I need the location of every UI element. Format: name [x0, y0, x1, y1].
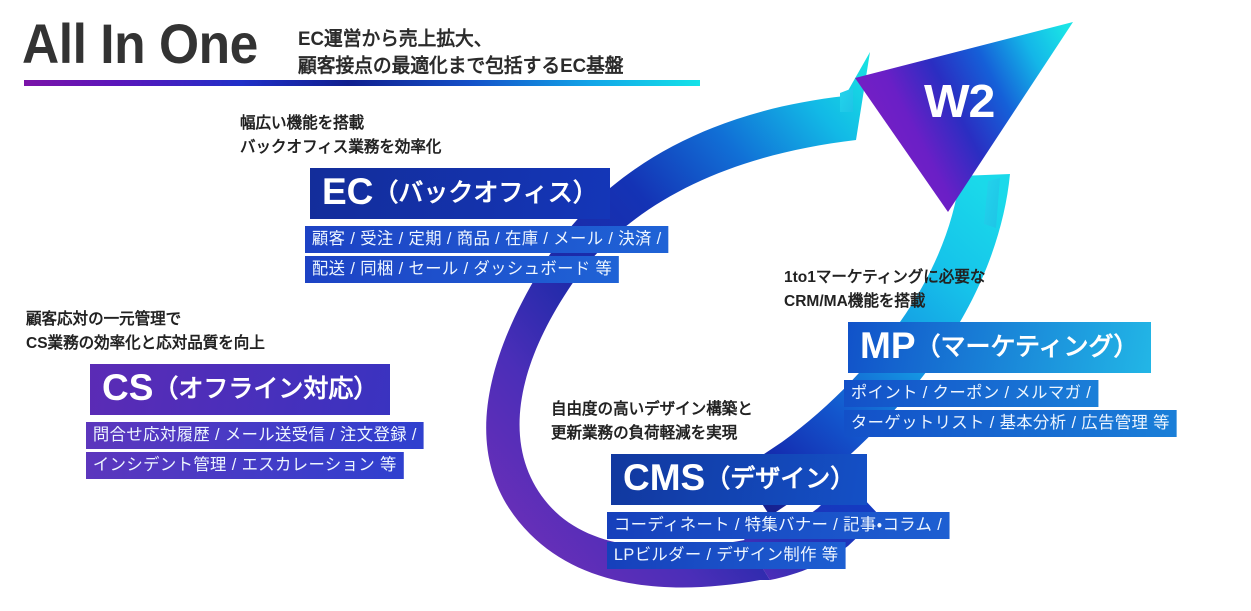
- section-ec-title: EC（バックオフィス）: [310, 168, 610, 219]
- header-gradient-rule: [24, 80, 700, 86]
- section-cs-code: CS: [102, 367, 153, 408]
- section-cms-jp-title: （デザイン）: [705, 465, 855, 493]
- section-cms-lead-line-2: 更新業務の負荷軽減を実現: [551, 422, 941, 446]
- section-cms-tags-line-1: コーディネート / 特集バナー / 記事・コラム /: [607, 512, 949, 539]
- section-cs-tags: 問合せ応対履歴 / メール送受信 / 注文登録 / インシデント管理 / エスカ…: [86, 422, 427, 479]
- section-cs-jp-title: （オフライン対応）: [153, 375, 378, 403]
- section-cms: 自由度の高いデザイン構築と 更新業務の負荷軽減を実現 CMS（デザイン） コーデ…: [551, 398, 953, 572]
- cyan-chip-left: [840, 88, 853, 112]
- all-in-one-diagram: All In One EC運営から売上拡大、 顧客接点の最適化まで包括するEC基…: [0, 0, 1251, 611]
- section-cs: 顧客応対の一元管理で CS業務の効率化と応対品質を向上 CS（オフライン対応） …: [26, 308, 427, 482]
- page-header: All In One EC運営から売上拡大、 顧客接点の最適化まで包括するEC基…: [22, 14, 637, 80]
- section-mp-title: MP（マーケティング）: [848, 322, 1151, 373]
- section-mp-jp-title: （マーケティング）: [916, 333, 1139, 361]
- section-cs-tags-line-2: インシデント管理 / エスカレーション 等: [86, 452, 404, 479]
- section-mp-lead-line-2: CRM/MA機能を搭載: [784, 290, 1168, 314]
- section-mp-lead-line-1: 1to1マーケティングに必要な: [784, 266, 1168, 290]
- section-ec-lead-line-1: 幅広い機能を搭載: [240, 112, 659, 136]
- section-ec-tags: 顧客 / 受注 / 定期 / 商品 / 在庫 / メール / 決済 / 配送 /…: [305, 226, 672, 283]
- section-cs-lead-line-1: 顧客応対の一元管理で: [26, 308, 415, 332]
- section-cms-lead-line-1: 自由度の高いデザイン構築と: [551, 398, 941, 422]
- page-title: All In One: [22, 14, 258, 74]
- section-ec-code: EC: [322, 171, 373, 212]
- section-cs-lead-line-2: CS業務の効率化と応対品質を向上: [26, 332, 415, 356]
- page-subtitle: EC運営から売上拡大、 顧客接点の最適化まで包括するEC基盤: [298, 26, 624, 80]
- section-ec-tags-line-2: 配送 / 同梱 / セール / ダッシュボード 等: [305, 256, 619, 283]
- section-ec-tags-line-1: 顧客 / 受注 / 定期 / 商品 / 在庫 / メール / 決済 /: [305, 226, 669, 253]
- section-mp-lead: 1to1マーケティングに必要な CRM/MA機能を搭載: [784, 266, 1168, 314]
- section-cs-lead: 顧客応対の一元管理で CS業務の効率化と応対品質を向上: [26, 308, 415, 356]
- section-cs-tags-line-1: 問合せ応対履歴 / メール送受信 / 注文登録 /: [86, 422, 424, 449]
- section-ec-lead: 幅広い機能を搭載 バックオフィス業務を効率化: [240, 112, 659, 160]
- w2-logo-label: W2: [924, 78, 994, 124]
- section-cms-title: CMS（デザイン）: [611, 454, 867, 505]
- section-ec-lead-line-2: バックオフィス業務を効率化: [240, 136, 659, 160]
- section-cms-tags-line-2: LPビルダー / デザイン制作 等: [607, 542, 845, 569]
- section-cs-title: CS（オフライン対応）: [90, 364, 390, 415]
- section-cms-tags: コーディネート / 特集バナー / 記事・コラム / LPビルダー / デザイン…: [607, 512, 953, 569]
- subtitle-line-1: EC運営から売上拡大、: [298, 26, 624, 53]
- section-ec: 幅広い機能を搭載 バックオフィス業務を効率化 EC（バックオフィス） 顧客 / …: [240, 112, 672, 286]
- section-cms-lead: 自由度の高いデザイン構築と 更新業務の負荷軽減を実現: [551, 398, 941, 446]
- subtitle-line-2: 顧客接点の最適化まで包括するEC基盤: [298, 53, 624, 80]
- section-mp-code: MP: [860, 325, 916, 366]
- section-cms-code: CMS: [623, 457, 705, 498]
- section-ec-jp-title: （バックオフィス）: [373, 179, 598, 207]
